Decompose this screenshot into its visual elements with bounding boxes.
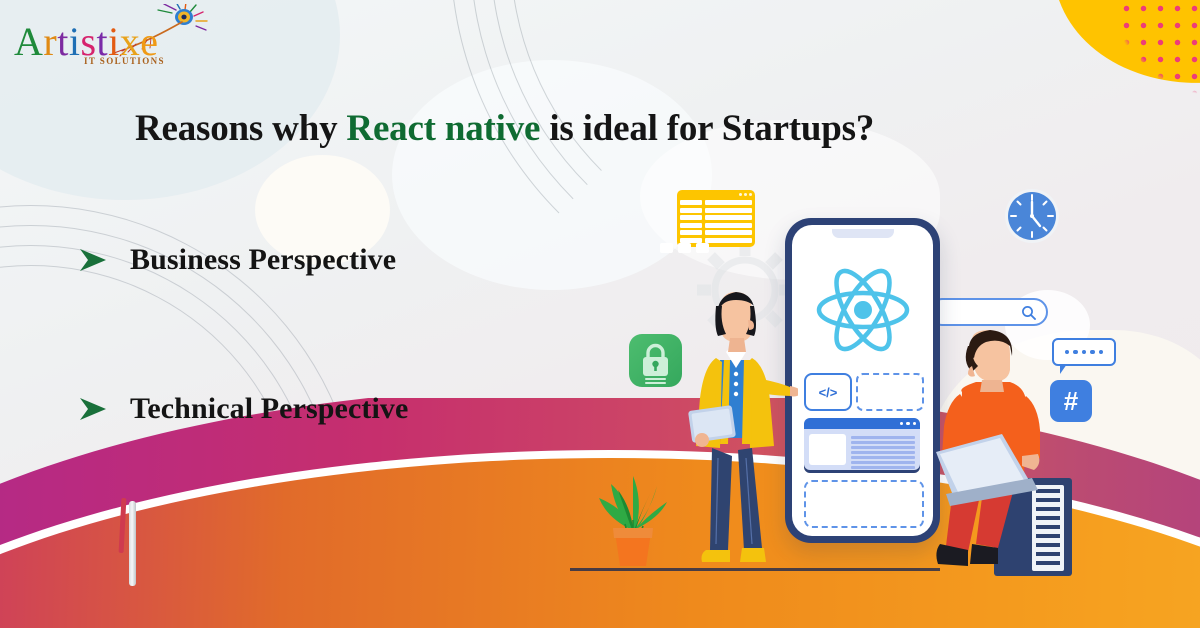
window-dot — [744, 193, 747, 196]
headline-highlight: React native — [346, 108, 540, 149]
dashed-placeholder — [804, 480, 924, 528]
browser-window-card[interactable] — [804, 418, 920, 470]
phone-screen: </> — [792, 225, 933, 536]
brand-logo[interactable]: Artistixe IT SOLUTIONS — [6, 8, 236, 70]
green-arrow-bullet-icon — [78, 396, 108, 422]
potted-plant-icon — [585, 460, 680, 570]
logo-letter: r — [43, 19, 57, 64]
decor-pole — [129, 501, 136, 586]
image-placeholder — [809, 434, 846, 465]
logo-tagline: IT SOLUTIONS — [84, 56, 165, 66]
window-dot — [739, 193, 742, 196]
code-chip[interactable]: </> — [804, 373, 852, 411]
logo-letter: A — [14, 19, 43, 64]
window-dot — [749, 193, 752, 196]
clock-widget[interactable] — [1002, 186, 1062, 246]
hero-illustration: # </> — [540, 0, 1200, 628]
headline-part-1: Reasons why — [135, 108, 346, 149]
list-item-label: Technical Perspective — [130, 392, 408, 426]
floor-line — [570, 568, 940, 571]
decor-squares — [660, 243, 709, 253]
search-bar[interactable] — [928, 298, 1048, 326]
list-item-label: Business Perspective — [130, 243, 396, 277]
browser-title-bar — [804, 418, 920, 429]
woman-with-tablet-illustration — [668, 288, 798, 584]
logo-letter: t — [57, 19, 69, 64]
browser-content — [804, 429, 920, 470]
man-with-laptop-illustration — [932, 330, 1082, 580]
list-item[interactable]: Business Perspective — [78, 243, 396, 277]
list-item[interactable]: Technical Perspective — [78, 392, 408, 426]
green-arrow-bullet-icon — [78, 247, 108, 273]
logo-letter: i — [69, 19, 81, 64]
dashed-placeholder — [856, 373, 924, 411]
phone-notch — [832, 229, 894, 238]
text-lines — [851, 434, 915, 469]
search-icon — [1021, 305, 1036, 320]
phone-mockup[interactable]: </> — [785, 218, 940, 543]
spreadsheet-card[interactable] — [677, 190, 755, 247]
react-atom-logo-icon — [815, 267, 911, 353]
banner-canvas: Artistixe IT SOLUTIONS Reasons why React… — [0, 0, 1200, 628]
